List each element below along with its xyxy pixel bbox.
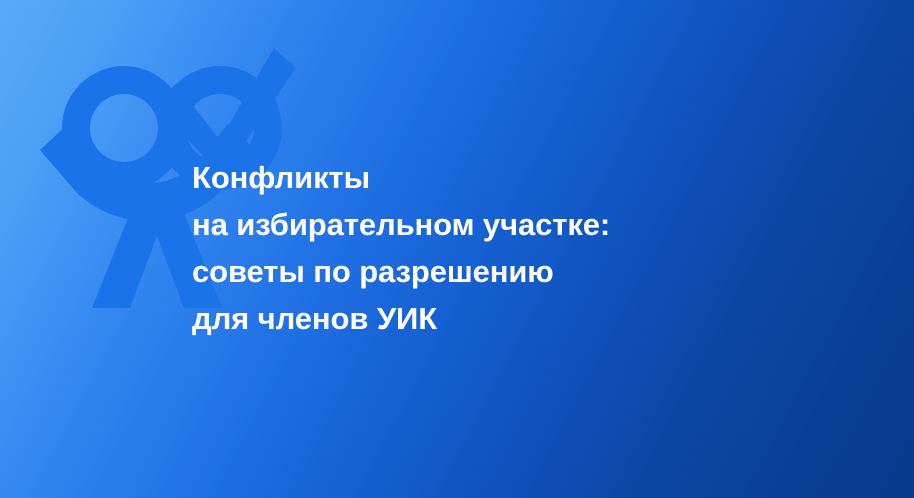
left-ring-icon [76,80,172,176]
headline-line-3: советы по разрешению [192,248,892,295]
headline-line-4: для членов УИК [192,295,892,342]
headline-line-2: на избирательном участке: [192,201,892,248]
title-banner: Конфликты на избирательном участке: сове… [0,0,914,498]
headline-line-1: Конфликты [192,154,892,201]
page-title: Конфликты на избирательном участке: сове… [192,154,892,342]
